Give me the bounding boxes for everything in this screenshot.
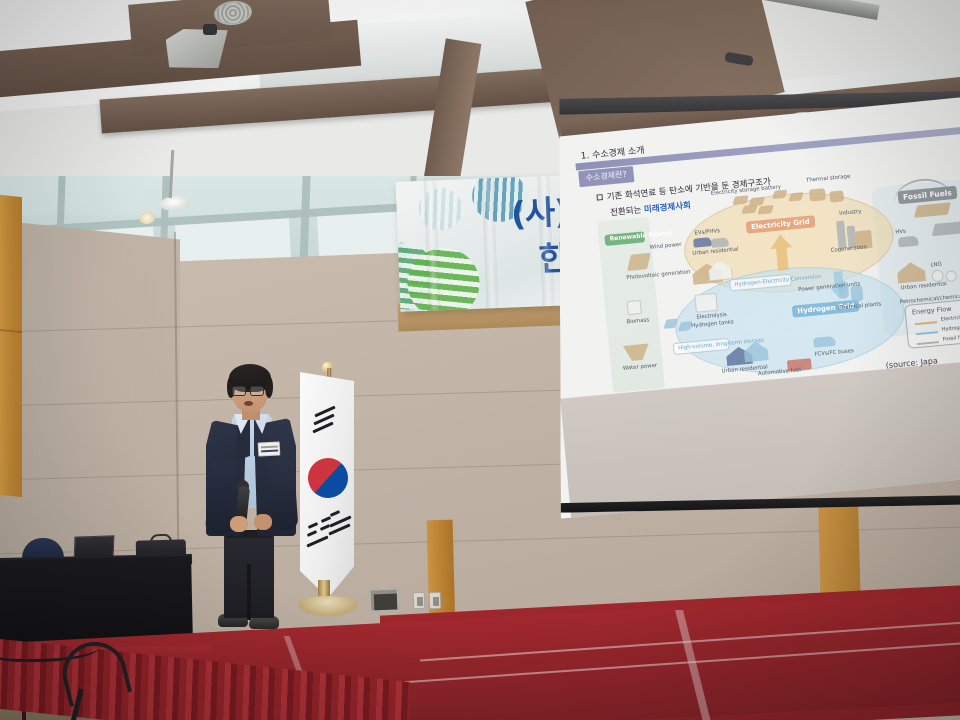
fcv-car-icon	[813, 336, 836, 348]
ev-car-icon	[711, 237, 729, 248]
thermal-storage-icon	[809, 188, 826, 201]
taeguk-symbol-icon	[301, 451, 354, 505]
hand-right	[254, 514, 272, 530]
projection-screen: 1. 수소경제 소개 지속가능하고 청정한 에너지 수소경제란? 기존 화석연료…	[559, 91, 960, 532]
thermal-storage-icon	[829, 190, 844, 202]
legend-swatch-icon	[916, 331, 938, 335]
legend-entry-label: Fossil fuel	[942, 334, 960, 342]
outlet-icon	[417, 597, 423, 606]
wind-power-label: Wind power	[649, 242, 681, 251]
glasses-lens-icon	[232, 386, 246, 396]
legend-swatch-icon	[915, 321, 937, 325]
bullet-checkbox-icon	[596, 194, 603, 201]
badge-line	[261, 450, 278, 453]
lng-label: LNG	[930, 261, 942, 268]
trigram-bar	[306, 535, 328, 547]
hvs-label: HVs	[895, 229, 906, 236]
recessed-speaker-icon	[203, 24, 217, 35]
arm-right	[268, 457, 299, 531]
hv-car-icon	[898, 236, 919, 248]
electrolysis-icon	[694, 293, 718, 313]
mouth	[244, 401, 253, 406]
hand-left	[230, 516, 248, 532]
badge-line	[261, 446, 278, 449]
conference-photo: (사) 한 1. 수소경제 소개 지속가능하고 청정한 에너지 수소경제란? 기…	[0, 0, 960, 720]
trigram-bar	[308, 522, 318, 529]
wall-outlet[interactable]	[413, 592, 426, 609]
legend-entry-label: Hydrogen	[941, 324, 960, 332]
table-cloth	[0, 556, 193, 644]
microphone-stand	[62, 642, 132, 720]
outlet-icon	[433, 597, 439, 606]
wall-outlet[interactable]	[429, 592, 442, 609]
trigram-bar	[321, 516, 331, 523]
energy-flow-diagram: Electricity Grid Hydrogen Grid Renewable…	[594, 172, 960, 403]
presenter	[196, 368, 306, 636]
glasses-lens-icon	[250, 386, 264, 396]
glasses-bridge-icon	[246, 390, 251, 391]
legend-entry-label: Electricity	[940, 314, 960, 322]
diagram-legend: Energy Flow Electricity Hydrogen Fossil …	[904, 297, 960, 349]
legend-title: Energy Flow	[912, 305, 952, 317]
trigram-bar	[330, 510, 340, 517]
presentation-slide: 1. 수소경제 소개 지속가능하고 청정한 에너지 수소경제란? 기존 화석연료…	[559, 97, 960, 427]
wood-pillar-left	[0, 195, 22, 497]
trigram-bar	[307, 530, 317, 537]
thermal-storage-label: Thermal storage	[806, 174, 851, 184]
hair-side	[265, 376, 273, 398]
ev-car-icon	[693, 237, 712, 248]
screen-canvas: 1. 수소경제 소개 지속가능하고 청정한 에너지 수소경제란? 기존 화석연료…	[559, 97, 960, 518]
trouser-leg-gap	[247, 564, 251, 620]
flag-cloth	[300, 372, 354, 598]
legend-swatch-icon	[917, 341, 939, 345]
junction-box-opening	[374, 594, 399, 611]
floor-junction-box[interactable]	[369, 587, 400, 612]
tanker-icon	[932, 221, 960, 236]
biomass-icon	[627, 300, 642, 315]
name-badge	[258, 441, 281, 456]
mic-stand-boom	[56, 635, 132, 707]
